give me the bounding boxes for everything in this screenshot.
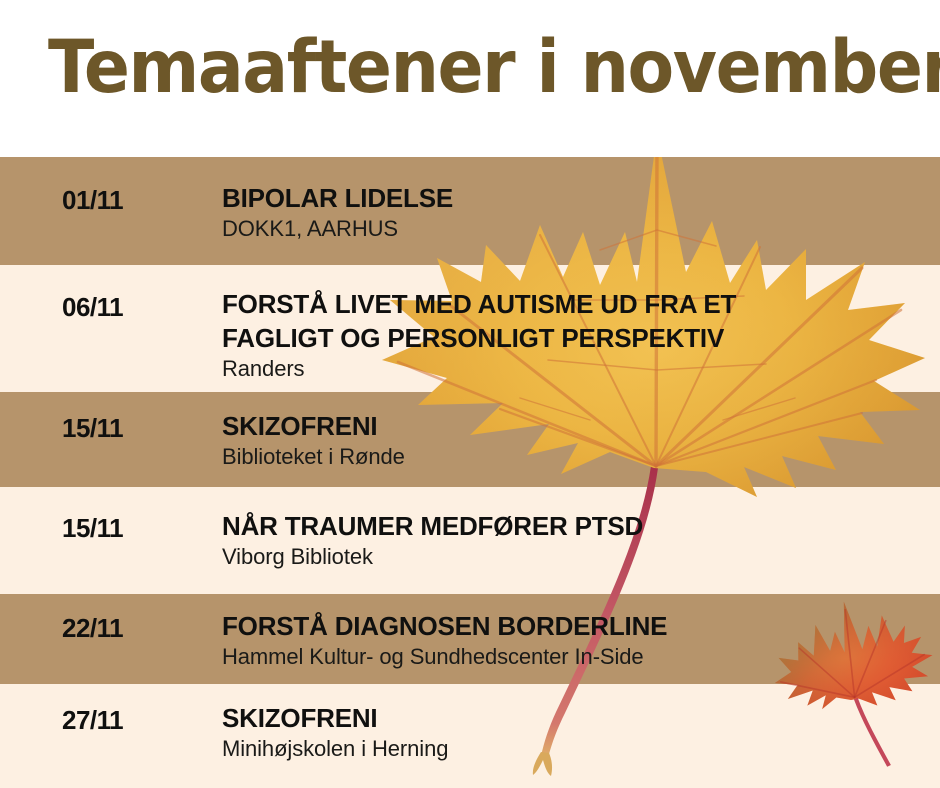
event-title: SKIZOFRENI <box>222 701 930 735</box>
list-item[interactable]: 15/11 NÅR TRAUMER MEDFØRER PTSD Viborg B… <box>0 487 940 594</box>
event-body: BIPOLAR LIDELSE DOKK1, AARHUS <box>222 181 930 243</box>
event-date: 01/11 <box>62 185 123 215</box>
event-date: 15/11 <box>62 513 123 543</box>
event-venue: Biblioteket i Rønde <box>222 443 930 471</box>
event-title: SKIZOFRENI <box>222 409 930 443</box>
poster-canvas: Temaaftener i november 01/11 BIPOLAR LID… <box>0 0 940 788</box>
list-item[interactable]: 22/11 FORSTÅ DIAGNOSEN BORDERLINE Hammel… <box>0 594 940 684</box>
list-item[interactable]: 06/11 FORSTÅ LIVET MED AUTISME UD FRA ET… <box>0 265 940 392</box>
event-body: SKIZOFRENI Biblioteket i Rønde <box>222 409 930 471</box>
event-venue: Hammel Kultur- og Sundhedscenter In-Side <box>222 643 930 671</box>
event-body: NÅR TRAUMER MEDFØRER PTSD Viborg Bibliot… <box>222 509 930 571</box>
event-title: FORSTÅ LIVET MED AUTISME UD FRA ET FAGLI… <box>222 287 820 355</box>
event-date: 22/11 <box>62 613 123 643</box>
event-body: FORSTÅ LIVET MED AUTISME UD FRA ET FAGLI… <box>222 287 820 383</box>
event-venue: Viborg Bibliotek <box>222 543 930 571</box>
list-item[interactable]: 01/11 BIPOLAR LIDELSE DOKK1, AARHUS <box>0 157 940 265</box>
list-item[interactable]: 27/11 SKIZOFRENI Minihøjskolen i Herning <box>0 684 940 788</box>
event-body: FORSTÅ DIAGNOSEN BORDERLINE Hammel Kultu… <box>222 609 930 671</box>
poster-header: Temaaftener i november <box>0 0 940 157</box>
event-title: BIPOLAR LIDELSE <box>222 181 930 215</box>
event-venue: DOKK1, AARHUS <box>222 215 930 243</box>
list-item[interactable]: 15/11 SKIZOFRENI Biblioteket i Rønde <box>0 392 940 487</box>
page-title: Temaaftener i november <box>48 26 940 110</box>
event-venue: Minihøjskolen i Herning <box>222 735 930 763</box>
event-date: 27/11 <box>62 705 123 735</box>
event-title: NÅR TRAUMER MEDFØRER PTSD <box>222 509 930 543</box>
event-date: 06/11 <box>62 292 123 322</box>
event-body: SKIZOFRENI Minihøjskolen i Herning <box>222 701 930 763</box>
event-title: FORSTÅ DIAGNOSEN BORDERLINE <box>222 609 930 643</box>
event-venue: Randers <box>222 355 820 383</box>
event-date: 15/11 <box>62 413 123 443</box>
